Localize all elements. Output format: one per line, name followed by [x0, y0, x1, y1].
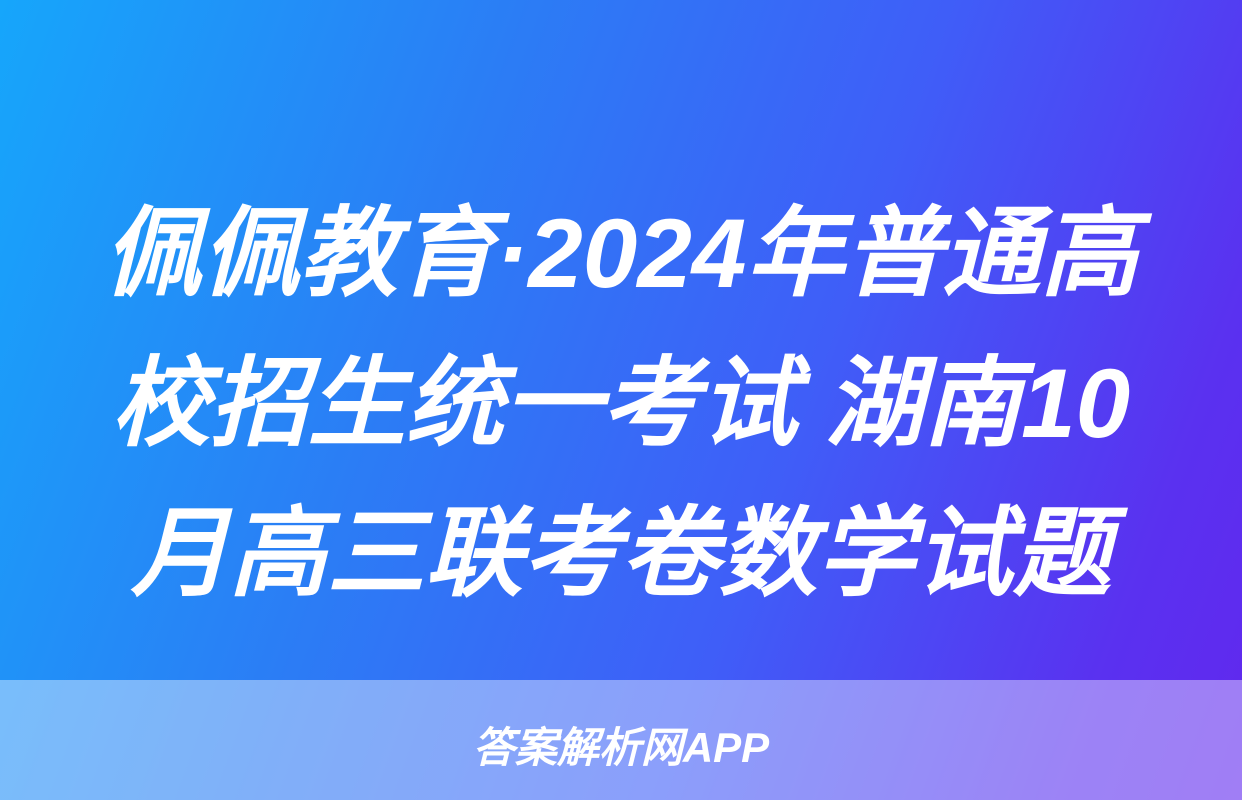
title-line-2: 校招生统一考试 湖南10 — [28, 328, 1214, 478]
page-title: 佩佩教育·2024年普通高 校招生统一考试 湖南10 月高三联考卷数学试题 — [0, 178, 1242, 628]
app-watermark: 答案解析网APP — [0, 722, 1242, 774]
exam-cover-banner: 佩佩教育·2024年普通高 校招生统一考试 湖南10 月高三联考卷数学试题 答案… — [0, 0, 1242, 800]
app-watermark-label: 答案解析网APP — [473, 722, 769, 774]
title-line-3: 月高三联考卷数学试题 — [28, 478, 1214, 628]
title-line-1: 佩佩教育·2024年普通高 — [28, 178, 1214, 328]
